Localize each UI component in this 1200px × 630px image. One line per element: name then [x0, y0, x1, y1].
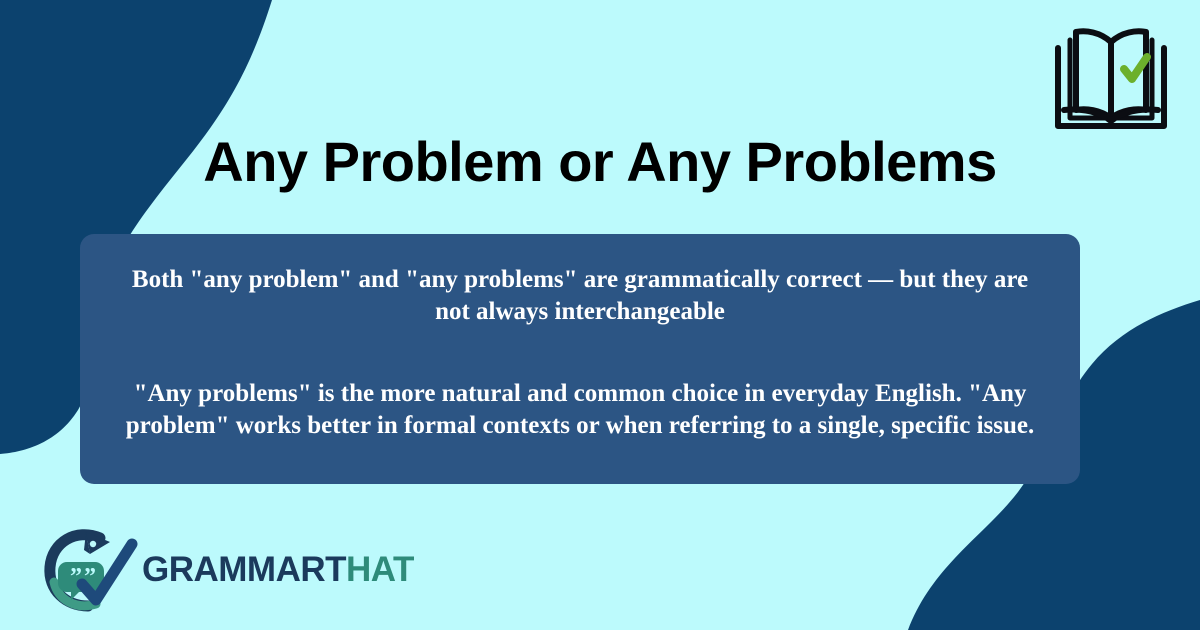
- explanation-paragraph-1: Both "any problem" and "any problems" ar…: [118, 264, 1042, 328]
- explanation-card: Both "any problem" and "any problems" ar…: [80, 234, 1080, 484]
- brand-logo-text: GRAMMARTHAT: [142, 552, 414, 587]
- brand-logo-text-primary: GRAMMART: [142, 550, 346, 589]
- grammarthat-pen-check-emblem: ” ”: [40, 526, 138, 612]
- open-book-with-check-icon: [1052, 22, 1170, 134]
- page-title: Any Problem or Any Problems: [0, 131, 1200, 193]
- brand-logo[interactable]: ” ” GRAMMARTHAT: [40, 526, 414, 612]
- poster-canvas: Any Problem or Any Problems Both "any pr…: [0, 0, 1200, 630]
- brand-logo-text-secondary: HAT: [346, 550, 414, 589]
- explanation-paragraph-2: "Any problems" is the more natural and c…: [118, 378, 1042, 442]
